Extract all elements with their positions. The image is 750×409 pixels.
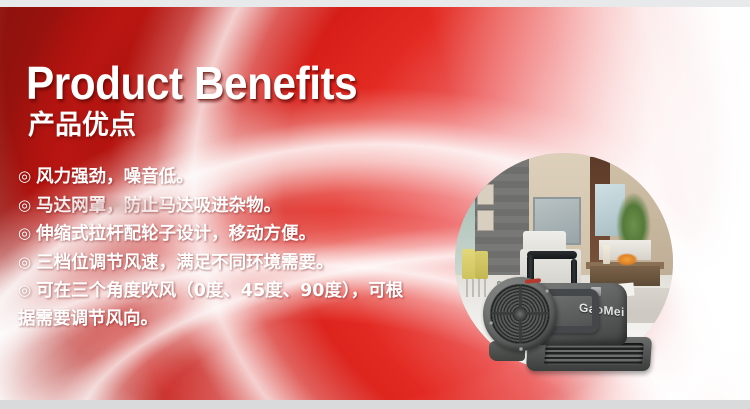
product-benefits-banner: Product Benefits 产品优点 ◎风力强劲，噪音低。 ◎马达网罩，防…	[0, 0, 750, 409]
blower-fan-hub	[514, 308, 526, 320]
benefit-list: ◎风力强劲，噪音低。 ◎马达网罩，防止马达吸进杂物。 ◎伸缩式拉杆配轮子设计，移…	[18, 163, 410, 333]
bullet-icon: ◎	[18, 220, 31, 248]
list-item: ◎伸缩式拉杆配轮子设计，移动方便。	[18, 220, 410, 249]
list-item-label: 风力强劲，噪音低。	[36, 167, 194, 187]
page-subtitle: 产品优点	[28, 110, 136, 142]
list-item-label: 可在三个角度吹风（0度、45度、90度），可根据需要调节风向。	[18, 281, 403, 329]
list-item-label: 伸缩式拉杆配轮子设计，移动方便。	[36, 224, 316, 244]
top-edge-strip	[0, 0, 750, 7]
bullet-icon: ◎	[18, 163, 31, 191]
product-photo: GaoMei	[455, 153, 673, 371]
bullet-icon: ◎	[18, 249, 31, 277]
list-item: ◎可在三个角度吹风（0度、45度、90度），可根据需要调节风向。	[18, 277, 410, 333]
bottom-edge-strip	[0, 400, 750, 409]
blower-bolt	[519, 347, 523, 351]
blower-bolt	[497, 281, 501, 285]
blower-outlet-louvers	[544, 343, 644, 365]
blower-bolt	[545, 289, 549, 293]
bullet-icon: ◎	[18, 277, 31, 305]
scene-chair-yellow-1	[462, 249, 475, 280]
scene-wall-frame-1	[477, 184, 494, 206]
page-title: Product Benefits	[26, 57, 357, 109]
scene-wall-frame-2	[477, 210, 494, 232]
list-item: ◎三档位调节风速，满足不同环境需要。	[18, 249, 410, 278]
product-air-blower: GaoMei	[475, 249, 663, 379]
list-item: ◎风力强劲，噪音低。	[18, 163, 410, 192]
blower-bolt	[489, 321, 493, 325]
product-photo-shadow	[18, 196, 202, 216]
list-item-label: 三档位调节风速，满足不同环境需要。	[36, 253, 334, 273]
blower-telescoping-handle-top	[527, 251, 577, 259]
